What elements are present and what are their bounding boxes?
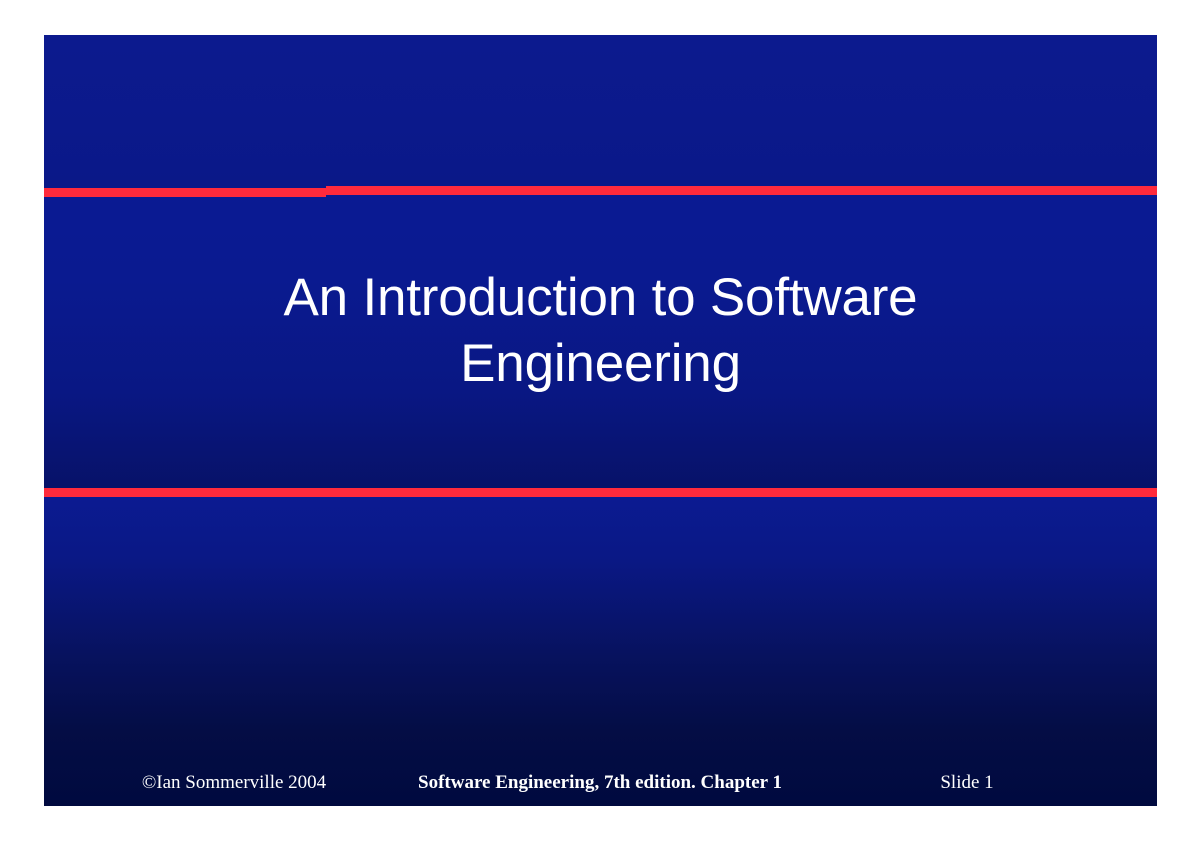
red-rule-upper-left-segment [44, 188, 326, 197]
slide-band-bottom [44, 489, 1157, 806]
footer-copyright: ©Ian Sommerville 2004 [44, 772, 424, 794]
slide-title-line-2: Engineering [44, 331, 1157, 397]
slide-title: An Introduction to Software Engineering [44, 265, 1157, 397]
footer-book-reference: Software Engineering, 7th edition. Chapt… [410, 772, 790, 794]
red-rule-lower [44, 488, 1157, 497]
slide-band-top [44, 35, 1157, 188]
slide-canvas: An Introduction to Software Engineering … [0, 0, 1200, 848]
slide-footer: ©Ian Sommerville 2004 Software Engineeri… [44, 772, 1157, 806]
red-rule-upper-right-segment [326, 186, 1157, 195]
footer-slide-number: Slide 1 [777, 772, 1157, 794]
presentation-slide: An Introduction to Software Engineering … [44, 35, 1157, 806]
slide-title-line-1: An Introduction to Software [44, 265, 1157, 331]
